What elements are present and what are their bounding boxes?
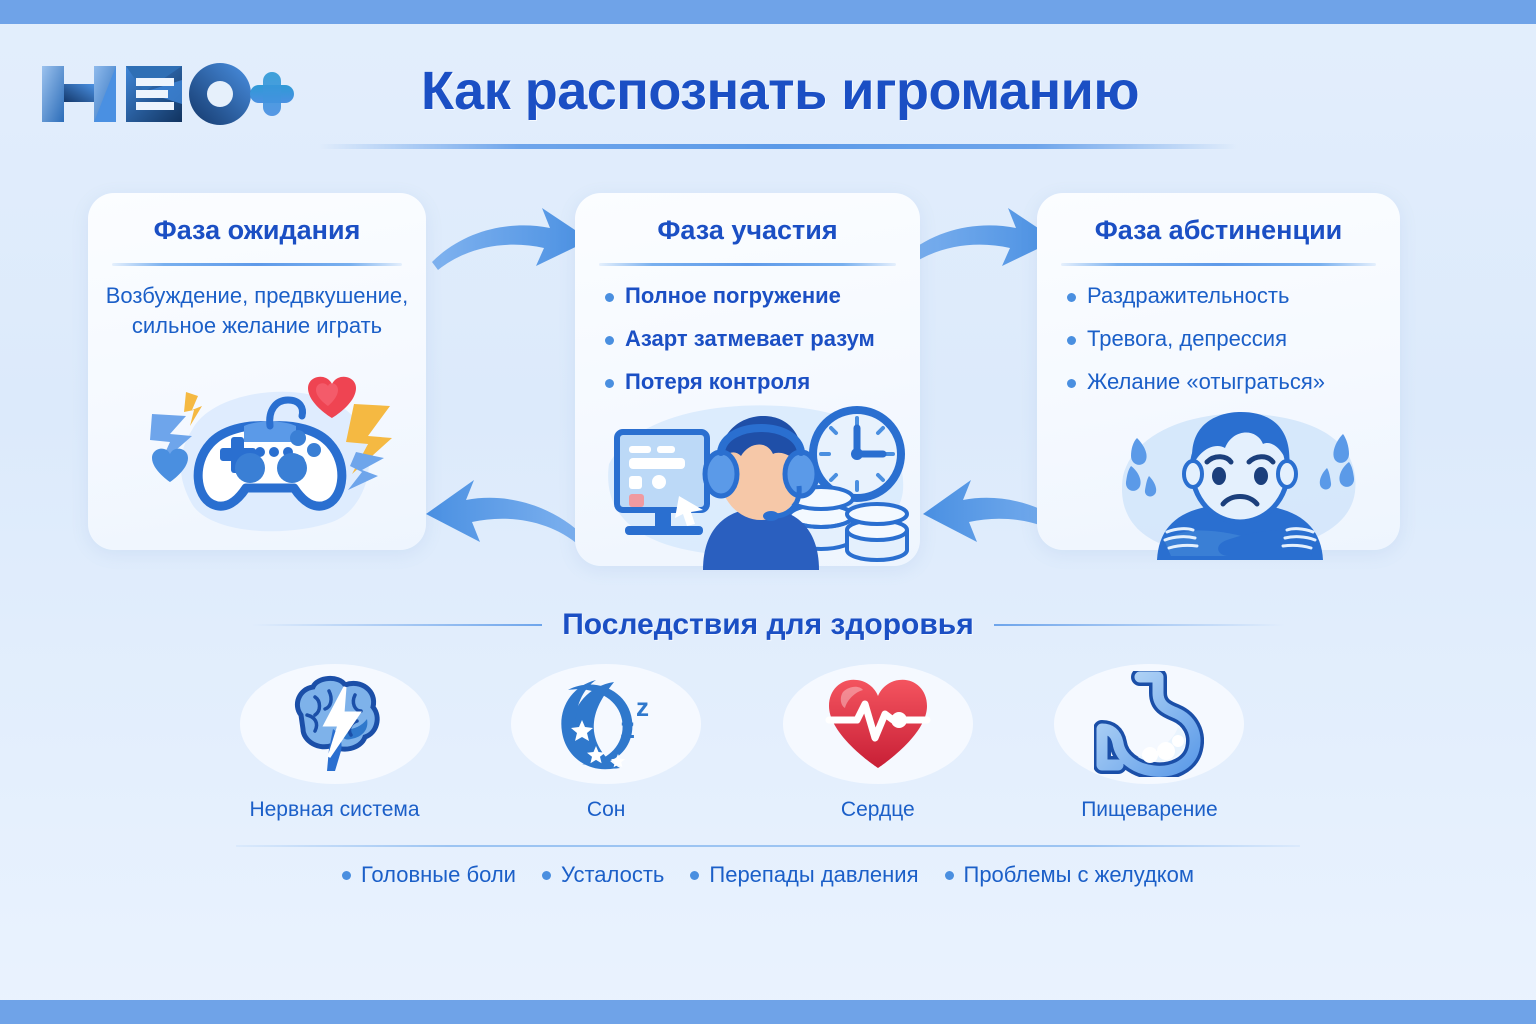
health-item-heart[interactable]: Сердце (775, 664, 980, 822)
top-accent-bar (0, 0, 1536, 24)
bottom-accent-bar (0, 1000, 1536, 1024)
svg-text:z: z (636, 692, 649, 722)
bullet-dot (1067, 379, 1076, 388)
gamer-headset-clock-coins-icon (595, 398, 915, 570)
infographic-page: Как распознать игроманию Фаза ожидания В… (0, 0, 1536, 1024)
svg-text:z: z (620, 712, 635, 745)
health-item-sleep[interactable]: z z Сон (504, 664, 709, 822)
divider-right (994, 624, 1284, 626)
section-title: Последствия для здоровья (562, 608, 974, 642)
bullet-label: Тревога, депрессия (1087, 326, 1287, 353)
bullet-dot (1067, 293, 1076, 302)
arrow-phase1-to-phase2 (424, 196, 596, 286)
card-divider (112, 263, 402, 266)
phase-card-title: Фаза участия (575, 215, 920, 246)
bullet-dot (342, 871, 351, 880)
card-divider (1061, 263, 1376, 266)
list-item: Проблемы с желудком (945, 862, 1195, 888)
icon-background (1054, 664, 1244, 784)
gamepad-hearts-icon (140, 372, 400, 547)
phase-card-title: Фаза абстиненции (1037, 215, 1400, 246)
phase-bullet-list: Раздражительность Тревога, депрессия Жел… (1067, 283, 1386, 411)
icon-background (240, 664, 430, 784)
bullet-dot (605, 293, 614, 302)
health-item-label: Пищеварение (1081, 798, 1218, 822)
symptom-label: Перепады давления (709, 862, 918, 888)
health-item-label: Сердце (841, 798, 915, 822)
list-item: Головные боли (342, 862, 516, 888)
phase-card-title: Фаза ожидания (88, 215, 426, 246)
consequences-section-header: Последствия для здоровья (0, 608, 1536, 642)
symptom-label: Головные боли (361, 862, 516, 888)
phase-bullet-list: Полное погружение Азарт затмевает разум … (605, 283, 906, 411)
bullet-dot (605, 336, 614, 345)
bullet-dot (1067, 336, 1076, 345)
divider-left (252, 624, 542, 626)
list-item: Раздражительность (1067, 283, 1386, 310)
bullet-label: Азарт затмевает разум (625, 326, 875, 353)
list-item: Перепады давления (690, 862, 918, 888)
bullet-dot (605, 379, 614, 388)
list-item: Полное погружение (605, 283, 906, 310)
bullet-dot (690, 871, 699, 880)
bullet-label: Желание «отыграться» (1087, 369, 1325, 396)
symptoms-divider (236, 845, 1300, 847)
brand-logo (36, 52, 296, 136)
symptom-label: Проблемы с желудком (964, 862, 1195, 888)
stomach-icon (1094, 671, 1204, 777)
bullet-label: Полное погружение (625, 283, 841, 310)
list-item: Азарт затмевает разум (605, 326, 906, 353)
moon-stars-zzz-icon: z z (552, 672, 660, 776)
header: Как распознать игроманию (0, 24, 1536, 164)
health-item-label: Нервная система (249, 798, 419, 822)
card-divider (599, 263, 896, 266)
health-item-label: Сон (587, 798, 625, 822)
symptom-label: Усталость (561, 862, 664, 888)
list-item: Желание «отыграться» (1067, 369, 1386, 396)
bullet-dot (542, 871, 551, 880)
heart-ecg-icon (823, 674, 933, 774)
health-item-digestion[interactable]: Пищеварение (1047, 664, 1252, 822)
bullet-dot (945, 871, 954, 880)
bullet-label: Раздражительность (1087, 283, 1289, 310)
list-item: Потеря контроля (605, 369, 906, 396)
sad-person-icon (1115, 404, 1365, 564)
symptoms-list: Головные боли Усталость Перепады давлени… (0, 862, 1536, 888)
arrow-phase2-back-to-phase1 (408, 472, 594, 564)
list-item: Усталость (542, 862, 664, 888)
icon-background: z z (511, 664, 701, 784)
page-title: Как распознать игроманию (330, 60, 1230, 122)
brain-lightning-icon (281, 671, 389, 777)
phase-card-description: Возбуждение, предвкушение, сильное желан… (102, 281, 412, 342)
icon-background (783, 664, 973, 784)
health-icons-row: Нервная система z z Сон (232, 664, 1252, 822)
bullet-label: Потеря контроля (625, 369, 810, 396)
title-underline (318, 144, 1238, 149)
list-item: Тревога, депрессия (1067, 326, 1386, 353)
health-item-nervous-system[interactable]: Нервная система (232, 664, 437, 822)
